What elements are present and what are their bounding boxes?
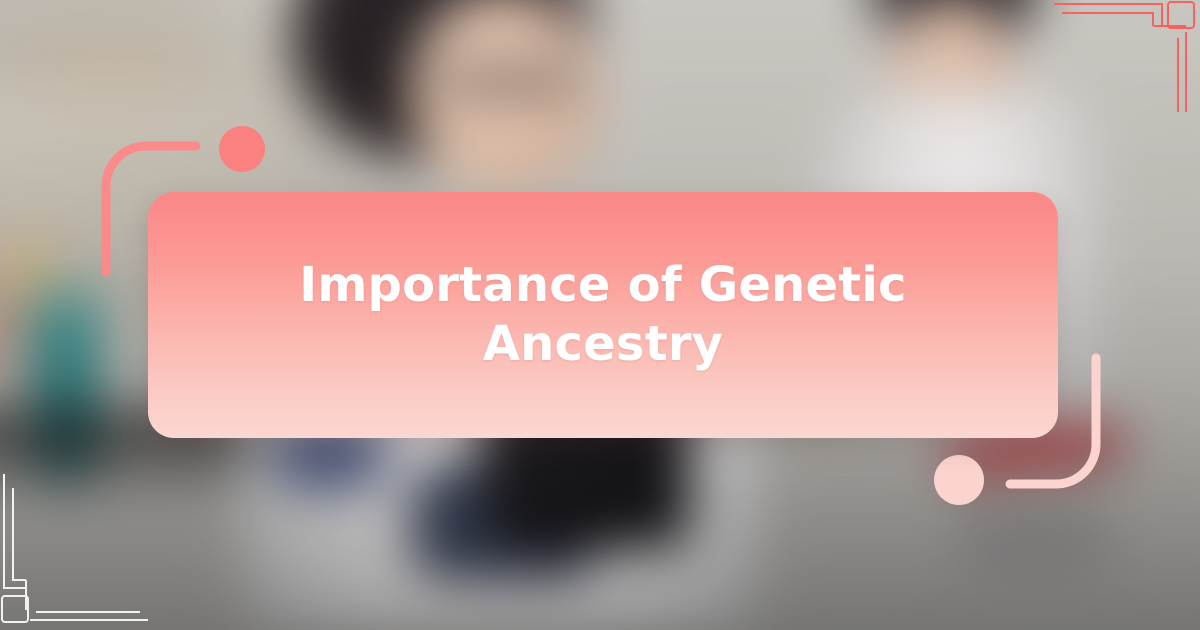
dot-top-left	[219, 126, 265, 172]
title-card: Importance of Genetic Ancestry	[148, 192, 1058, 438]
article-banner: Importance of Genetic Ancestry	[0, 0, 1200, 630]
dot-bottom-right	[934, 455, 984, 505]
page-title: Importance of Genetic Ancestry	[283, 256, 923, 373]
